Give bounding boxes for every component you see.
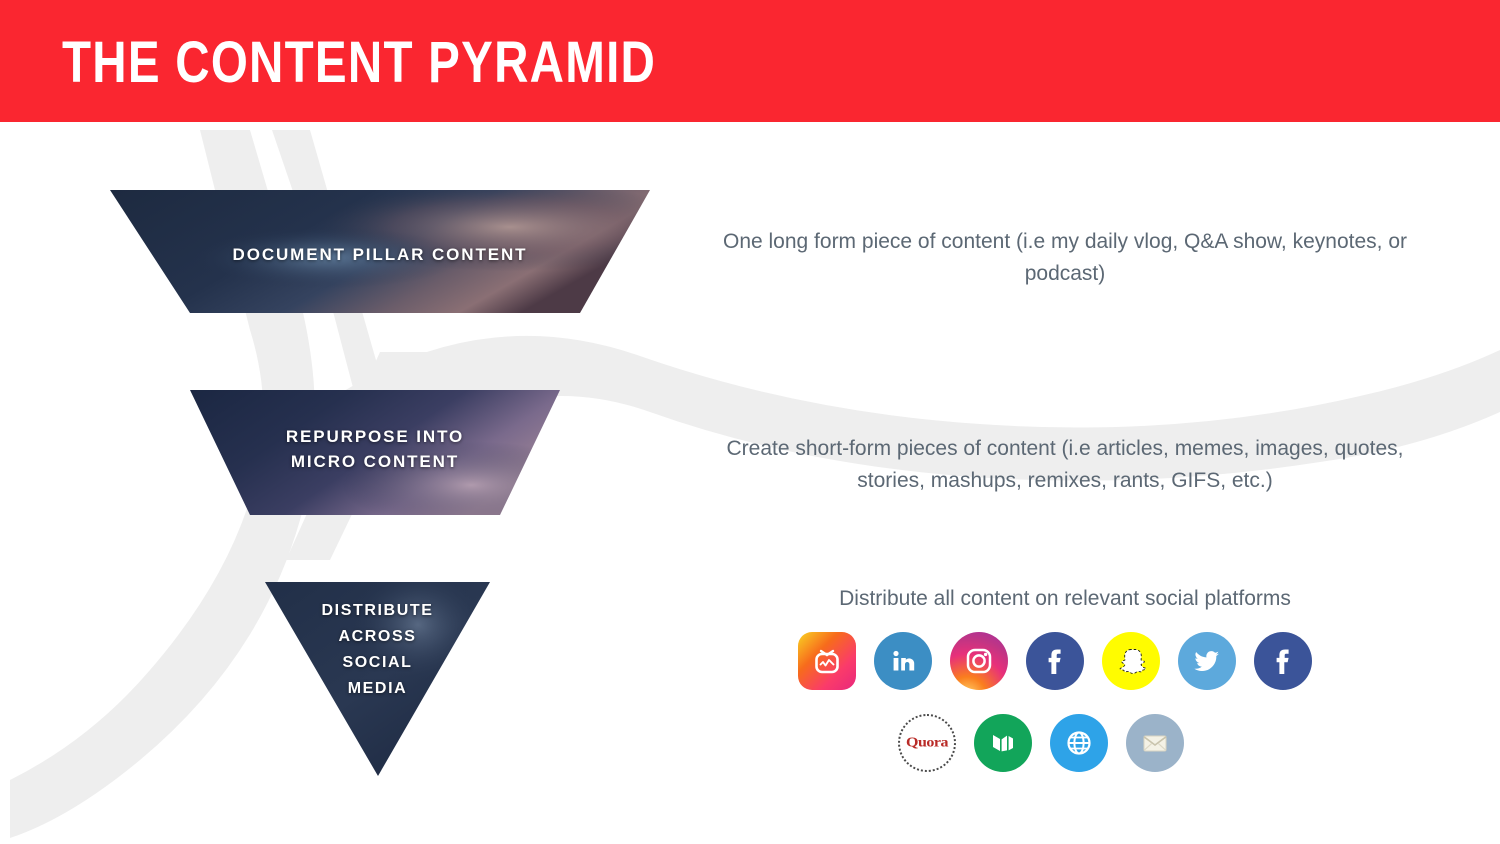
- header-bar: THE CONTENT PYRAMID: [0, 0, 1500, 122]
- quora-wordmark: Quora: [906, 735, 948, 750]
- instagram-icon[interactable]: [950, 632, 1008, 690]
- funnel-stage-1[interactable]: [110, 190, 650, 313]
- web-icon[interactable]: [1050, 714, 1108, 772]
- stage-1-description: One long form piece of content (i.e my d…: [700, 226, 1430, 290]
- linkedin-icon[interactable]: [874, 632, 932, 690]
- social-icons-row-2: Quora: [898, 714, 1184, 772]
- email-icon[interactable]: [1126, 714, 1184, 772]
- stage-2-description: Create short-form pieces of content (i.e…: [700, 433, 1430, 497]
- slide-canvas: THE CONTENT PYRAMID: [0, 0, 1500, 844]
- funnel-stage-2[interactable]: [190, 390, 560, 515]
- funnel-stage-3[interactable]: [265, 582, 490, 776]
- facebook-icon[interactable]: [1026, 632, 1084, 690]
- snapchat-icon[interactable]: [1102, 632, 1160, 690]
- page-title: THE CONTENT PYRAMID: [62, 34, 656, 92]
- social-icons-row-1: [798, 632, 1312, 690]
- stage-3-description: Distribute all content on relevant socia…: [700, 583, 1430, 615]
- igtv-icon[interactable]: [798, 632, 856, 690]
- facebook-icon-2[interactable]: [1254, 632, 1312, 690]
- funnel-diagram: [0, 0, 760, 844]
- quora-icon[interactable]: Quora: [898, 714, 956, 772]
- medium-icon[interactable]: [974, 714, 1032, 772]
- twitter-icon[interactable]: [1178, 632, 1236, 690]
